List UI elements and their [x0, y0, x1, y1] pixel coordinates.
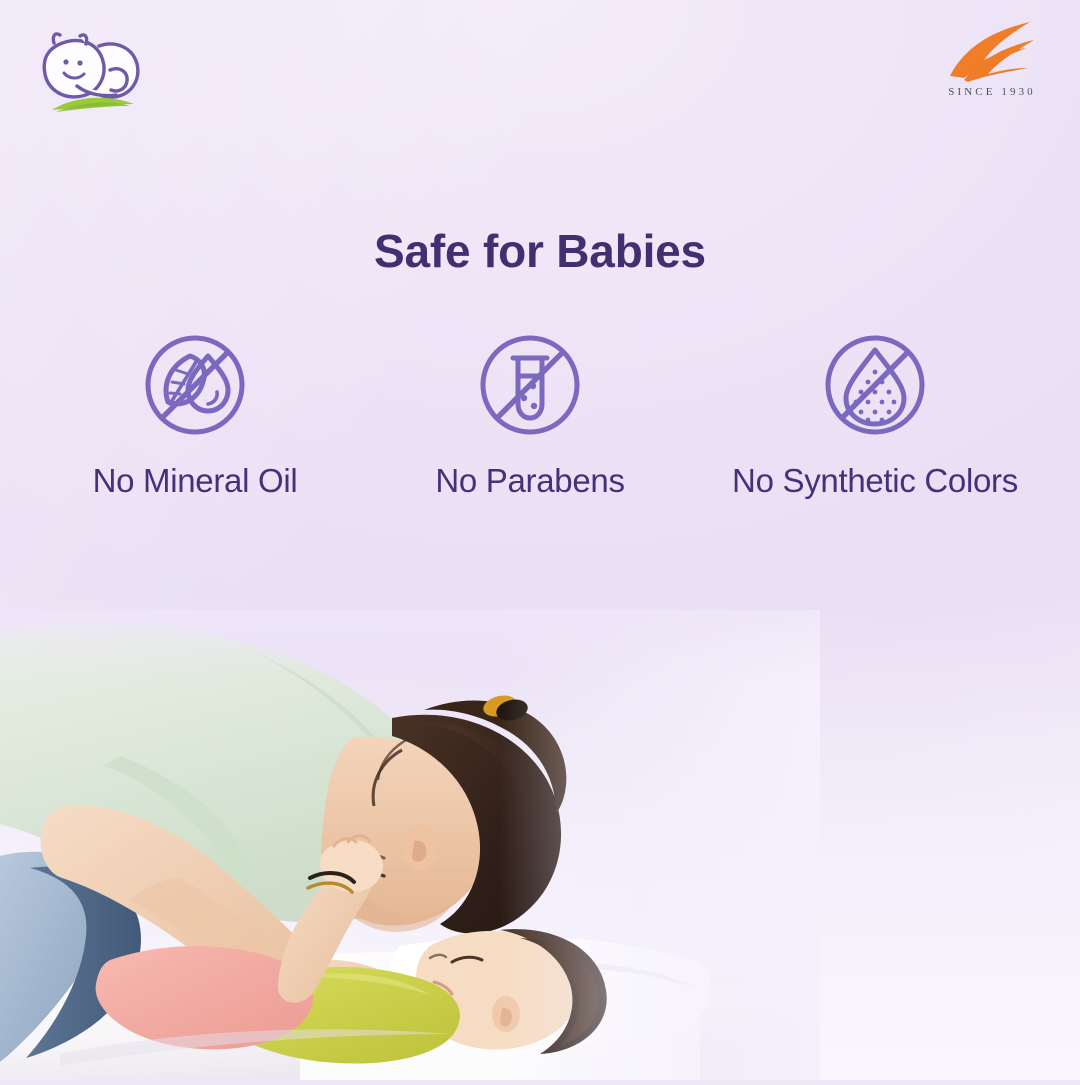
orange-flame-logo[interactable]: SINCE 1930: [932, 18, 1052, 110]
no-parabens-icon: [475, 330, 585, 440]
claim-no-mineral-oil: No Mineral Oil: [25, 330, 365, 500]
baby-logo-mark: [30, 24, 152, 116]
claim-no-synthetic-colors: No Synthetic Colors: [695, 330, 1055, 500]
page-title: Safe for Babies: [0, 224, 1080, 278]
claims-row: No Mineral Oil No P: [0, 330, 1080, 500]
photo-top-fade: [0, 610, 820, 680]
brand-tagline: SINCE 1930: [948, 86, 1036, 98]
no-synthetic-colors-glyph: [820, 330, 930, 440]
no-mineral-oil-glyph: [140, 330, 250, 440]
flame-logo-mark: [944, 18, 1040, 84]
no-parabens-glyph: [475, 330, 585, 440]
claim-label: No Synthetic Colors: [732, 462, 1018, 500]
no-mineral-oil-icon: [140, 330, 250, 440]
claim-no-parabens: No Parabens: [365, 330, 695, 500]
claim-label: No Mineral Oil: [93, 462, 298, 500]
baby-on-grass-logo[interactable]: [30, 24, 152, 116]
mother-and-baby-photo: [0, 610, 820, 1080]
claim-label: No Parabens: [435, 462, 624, 500]
photo-right-fade: [500, 610, 820, 1080]
no-synthetic-colors-icon: [820, 330, 930, 440]
